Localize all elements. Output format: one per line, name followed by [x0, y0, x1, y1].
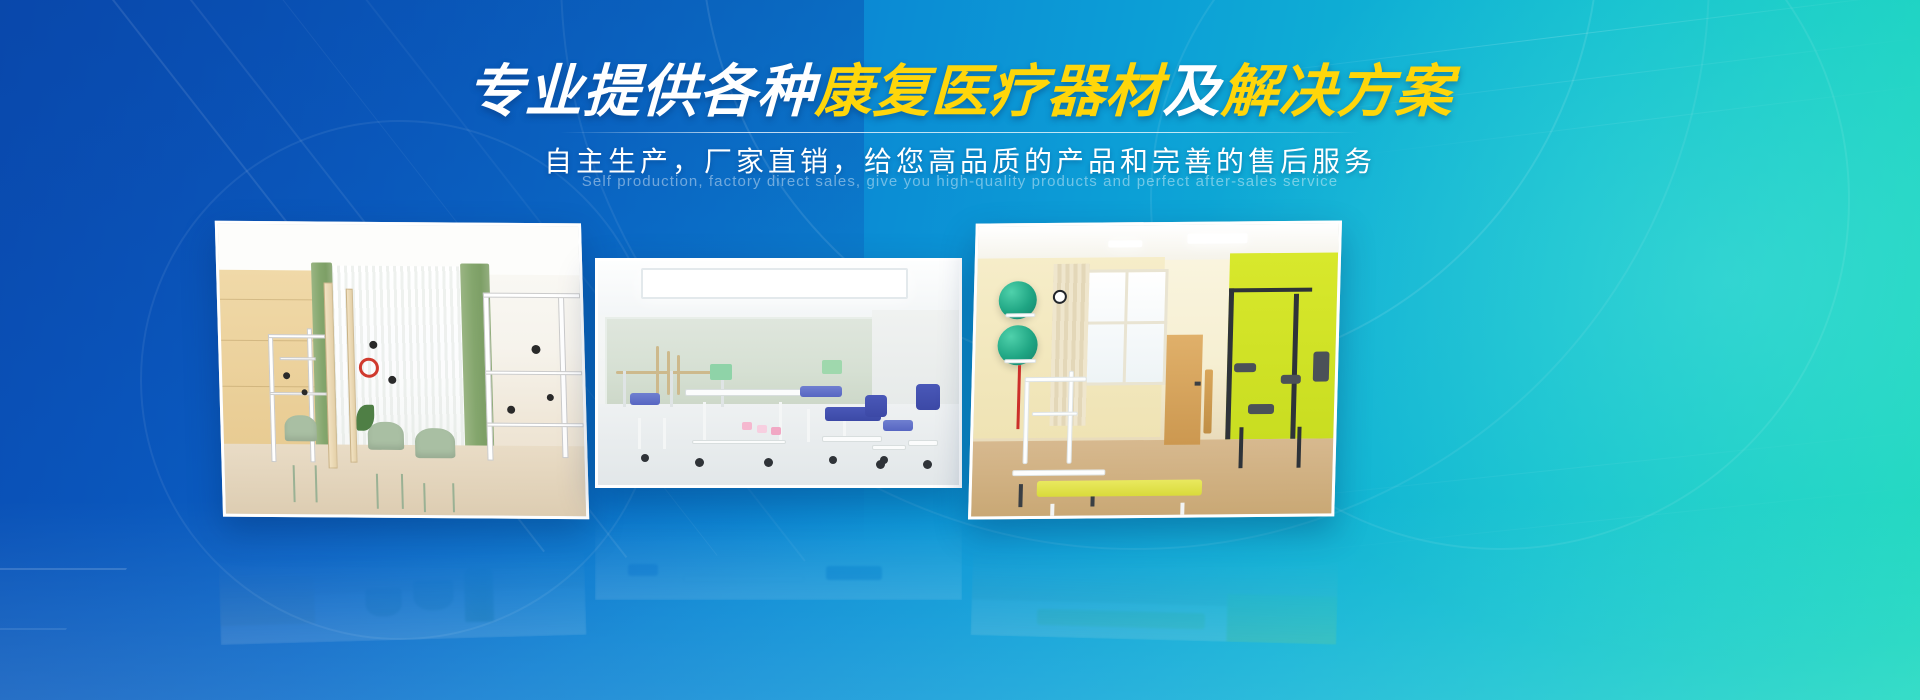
- photo-right[interactable]: [968, 220, 1342, 519]
- photo-left-reflection: [217, 515, 586, 645]
- photo-left[interactable]: [215, 221, 589, 519]
- photo-center-reflection: [595, 490, 962, 600]
- photo-gallery: [0, 0, 1920, 700]
- photo-center[interactable]: [595, 258, 962, 488]
- scene-physiotherapy-area: [971, 223, 1339, 516]
- promotional-banner: 专业提供各种康复医疗器材及解决方案 自主生产，厂家直销，给您高品质的产品和完善的…: [0, 0, 1920, 700]
- scene-rehab-training-room: [218, 224, 586, 516]
- scene-rehabilitation-hall: [598, 261, 959, 485]
- photo-right-reflection: [970, 515, 1339, 645]
